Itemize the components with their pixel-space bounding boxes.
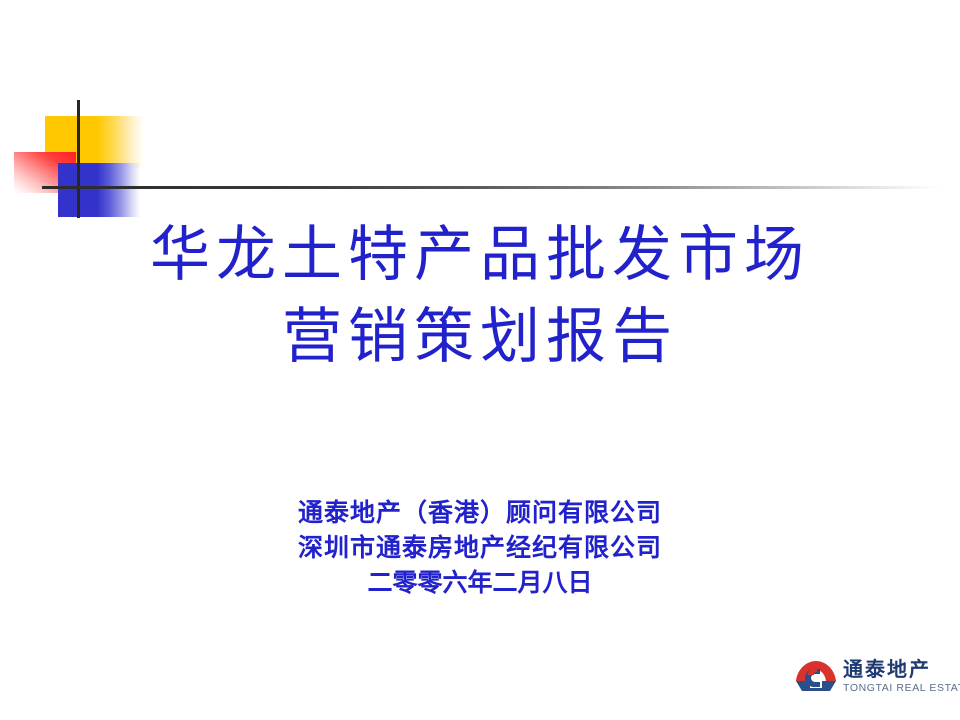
- title-line-2: 营销策划报告: [0, 296, 960, 378]
- company-logo: 通泰地产 TONGTAI REAL ESTATE: [793, 652, 953, 702]
- logo-text-group: 通泰地产 TONGTAI REAL ESTATE: [843, 660, 960, 694]
- decorative-corner-motif: [0, 0, 340, 240]
- title-line-1: 华龙土特产品批发市场: [0, 214, 960, 296]
- logo-chinese-name: 通泰地产: [843, 660, 960, 680]
- slide-title: 华龙土特产品批发市场 营销策划报告: [0, 214, 960, 378]
- subtitle-date: 二零零六年二月八日: [0, 566, 960, 601]
- slide-subtitle: 通泰地产（香港）顾问有限公司 深圳市通泰房地产经纪有限公司 二零零六年二月八日: [0, 496, 960, 601]
- subtitle-company-1: 通泰地产（香港）顾问有限公司: [0, 496, 960, 531]
- vertical-rule: [77, 100, 80, 218]
- logo-english-name: TONGTAI REAL ESTATE: [843, 683, 960, 694]
- subtitle-company-2: 深圳市通泰房地产经纪有限公司: [0, 531, 960, 566]
- blue-rectangle-shape: [58, 163, 140, 217]
- horizontal-rule: [42, 186, 942, 189]
- tongtai-logo-icon: [793, 657, 839, 697]
- presentation-slide: 华龙土特产品批发市场 营销策划报告 通泰地产（香港）顾问有限公司 深圳市通泰房地…: [0, 0, 960, 720]
